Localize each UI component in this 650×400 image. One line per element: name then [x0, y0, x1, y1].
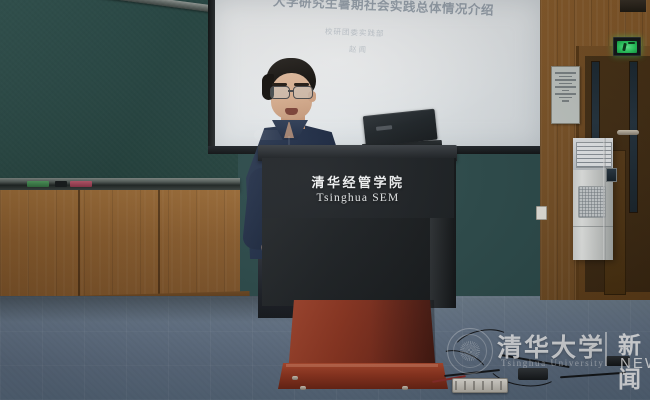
wall-outlet[interactable] [536, 206, 547, 220]
power-adapter [518, 368, 548, 380]
chalk-box-green [27, 181, 49, 187]
lectern-base-bolt [292, 376, 298, 380]
eyeglass-lens-left [270, 86, 290, 99]
ac-air-grille [576, 142, 612, 168]
exit-sign [613, 37, 641, 56]
eyeglass-bridge [288, 90, 294, 92]
panel-seam [78, 190, 80, 310]
lectern-sign: 清华经管学院 Tsinghua SEM [262, 158, 454, 218]
screen-edge-left [208, 0, 215, 152]
lectern-base-bolt [300, 386, 306, 390]
lectern-sign-chinese: 清华经管学院 [311, 172, 404, 191]
ceiling-fixture [620, 0, 646, 12]
door-handle[interactable] [617, 130, 639, 135]
panel-seam [158, 190, 160, 310]
lectern-sign-english: Tsinghua SEM [317, 192, 400, 204]
ac-control-panel[interactable] [606, 168, 617, 182]
eyeglasses-icon [268, 86, 316, 97]
air-conditioner[interactable] [573, 138, 613, 260]
lecture-hall-photo: 大学研究生暑期社会实践总体情况介绍 校研团委实践部 赵闻 [0, 0, 650, 400]
framed-notice [551, 66, 580, 124]
chalk-box-red [70, 181, 92, 187]
eraser-dark [55, 181, 67, 187]
chalkboard [0, 0, 238, 185]
lectern-base-bolt [402, 386, 408, 390]
slide-presenter: 赵闻 [349, 44, 368, 56]
ac-seam [573, 226, 613, 227]
lectern-pedestal-shading [370, 300, 436, 374]
running-person-icon [617, 41, 637, 53]
laptop-logo [376, 125, 392, 131]
slide-subtitle: 校研团委实践部 [325, 26, 385, 39]
ac-filter-vent [578, 186, 606, 218]
eyeglass-lens-right [293, 86, 313, 99]
lectern-base-highlight [286, 364, 438, 367]
ac-panel-edge [603, 138, 606, 260]
door-glass-pane [630, 62, 637, 212]
speaker-mouth [285, 108, 298, 115]
floor-power-plug [606, 356, 630, 366]
power-strip[interactable] [452, 378, 508, 393]
